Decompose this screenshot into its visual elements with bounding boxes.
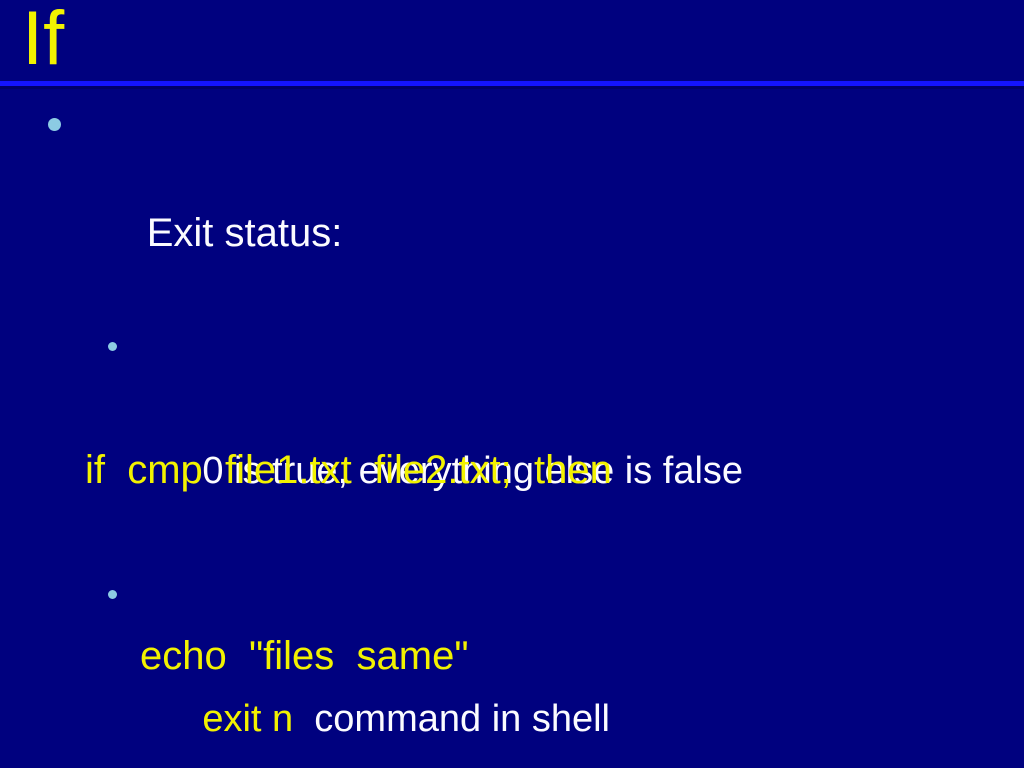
slide-canvas: If Exit status: 0 is true, everything el… [0,0,1024,768]
bullet-dot-icon [48,118,61,131]
shell-code-block: if cmp file1.txt file2.txt; then echo "f… [85,315,715,768]
slide-title: If [22,0,64,82]
bullet-item-exit-status: Exit status: [0,96,1024,316]
code-line: if cmp file1.txt file2.txt; then [85,439,715,501]
bullet-label: Exit status: [147,211,343,255]
title-divider-shadow [0,86,1024,89]
code-line: echo "files same" [85,625,715,687]
